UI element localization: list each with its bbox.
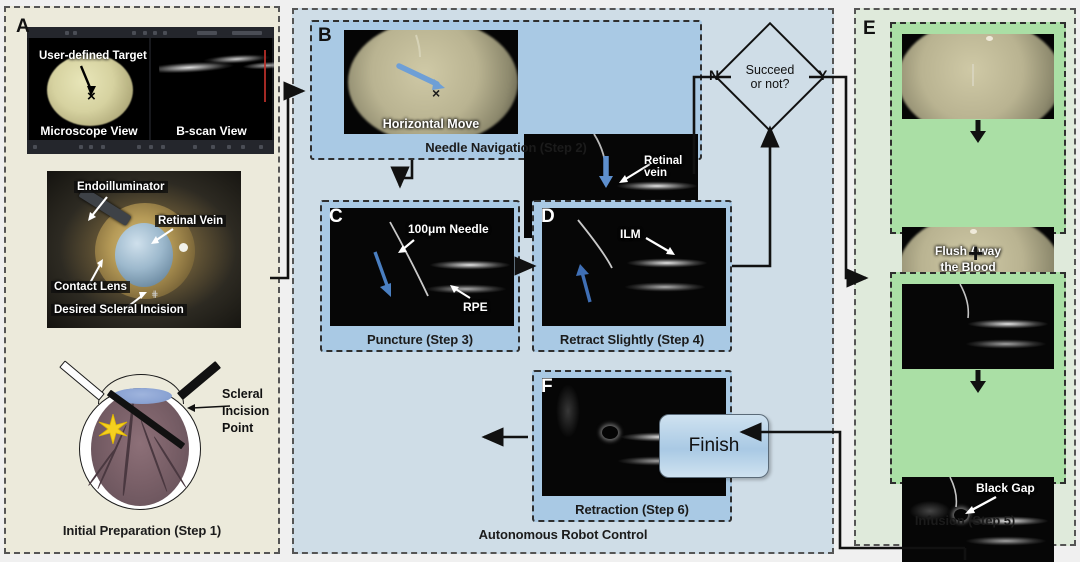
fundus-disc-before <box>902 34 1054 119</box>
contact-lens-label: Contact Lens <box>51 281 130 293</box>
caption-initial-preparation: Initial Preparation (Step 1) <box>6 523 278 538</box>
horizontal-move-label: Horizontal Move <box>344 117 518 131</box>
puncture-oct-image: 100μm Needle RPE <box>330 208 514 326</box>
retinal-vein-annotation: Retinal vein <box>644 155 698 179</box>
horizontal-move-image: × Horizontal Move <box>344 30 518 134</box>
container-infusion: E Flush Away the Blood <box>854 8 1076 546</box>
bscan-retina-image <box>158 41 274 87</box>
eye-closeup-photo: ⋕ Endoilluminator Retinal Vein Contact L… <box>47 171 241 328</box>
scleral-line2: Incision <box>222 403 269 420</box>
panel-letter-a: A <box>16 16 30 38</box>
infusion-plus-symbol: + <box>968 240 983 266</box>
illumination-spark-icon <box>98 414 128 444</box>
infusion-oct-before <box>902 284 1054 369</box>
caption-retraction: Retraction (Step 6) <box>534 502 730 517</box>
oct-before-needle-icon <box>902 284 1054 369</box>
infusion-down-arrow-2-icon <box>958 370 998 394</box>
scleral-line1: Scleral <box>222 386 269 403</box>
caption-puncture: Puncture (Step 3) <box>322 332 518 347</box>
software-bottom-toolbar <box>27 140 274 154</box>
retract-oct-image: ILM <box>542 208 726 326</box>
scleral-incision-marker: ⋕ <box>151 289 160 300</box>
branch-label-no: N <box>709 67 719 83</box>
microscope-view-pane: User-defined Target × Microscope View <box>29 38 149 140</box>
microscope-view-label: Microscope View <box>29 124 149 138</box>
decision-line2: or not? <box>751 77 790 91</box>
target-marker: × <box>87 88 96 105</box>
endoilluminator-label: Endoilluminator <box>74 181 168 193</box>
step-card-retract-slightly[interactable]: D ILM Retract Slightly (Step 4) <box>532 200 732 352</box>
infusion-fundus-before <box>902 34 1054 119</box>
container-initial-preparation: A User-defined Target × Microscope View <box>4 6 280 554</box>
panel-letter-e: E <box>863 18 876 40</box>
infusion-down-arrow-1-icon <box>958 120 998 144</box>
highlight-after <box>970 229 977 234</box>
microscope-software-screenshot: User-defined Target × Microscope View B-… <box>27 27 274 154</box>
retraction-black-gap <box>602 426 618 439</box>
panel-letter-d: D <box>541 206 555 228</box>
bscan-scan-line <box>264 50 266 102</box>
bscan-view-pane: B-scan View <box>151 38 272 140</box>
step-card-needle-navigation[interactable]: B × Horizontal Move <box>310 20 702 160</box>
caption-autonomous-robot-control: Autonomous Robot Control <box>294 527 832 542</box>
scleral-incision-point-label: Scleral Incision Point <box>222 386 269 437</box>
ilm-annotation: ILM <box>620 227 641 241</box>
rpe-annotation: RPE <box>463 300 488 314</box>
software-top-toolbar <box>27 27 274 38</box>
needle-size-annotation: 100μm Needle <box>408 222 489 236</box>
retract-annotations <box>542 208 726 326</box>
highlight-before <box>986 36 993 41</box>
scleral-line3: Point <box>222 420 269 437</box>
branch-label-yes: Y <box>818 67 827 83</box>
panel-letter-f: F <box>541 376 553 398</box>
panel-letter-c: C <box>329 206 343 228</box>
endoilluminator-schematic <box>59 360 105 400</box>
panel-letter-b: B <box>318 25 332 47</box>
retinal-vein-label: Retinal Vein <box>155 215 226 227</box>
desired-scleral-incision-label: Desired Scleral Incision <box>51 304 187 316</box>
finish-node[interactable]: Finish <box>659 414 769 478</box>
decision-text: Succeed or not? <box>731 38 809 116</box>
needle-tip-before <box>972 64 974 86</box>
infusion-blackgap-group[interactable]: Black Gap <box>890 272 1066 484</box>
infusion-flush-group[interactable]: Flush Away the Blood <box>890 22 1066 234</box>
decision-succeed-or-not[interactable]: Succeed or not? <box>731 38 809 116</box>
caption-retract-slightly: Retract Slightly (Step 4) <box>534 332 730 347</box>
figure-root: A User-defined Target × Microscope View <box>0 0 1080 561</box>
decision-line1: Succeed <box>746 63 795 77</box>
step-card-puncture[interactable]: C 100μm Needle RPE Puncture (Step 3) <box>320 200 520 352</box>
caption-infusion: Infusion (Step 5) <box>856 513 1074 528</box>
bscan-view-label: B-scan View <box>151 124 272 138</box>
retraction-shadow-artifact <box>556 384 580 438</box>
caption-needle-navigation: Needle Navigation (Step 2) <box>312 140 700 155</box>
finish-label: Finish <box>689 435 740 457</box>
horizontal-target-marker: × <box>432 85 440 101</box>
black-gap-annotation: Black Gap <box>976 481 1035 495</box>
eye-schematic-diagram: Scleral Incision Point <box>54 364 234 512</box>
